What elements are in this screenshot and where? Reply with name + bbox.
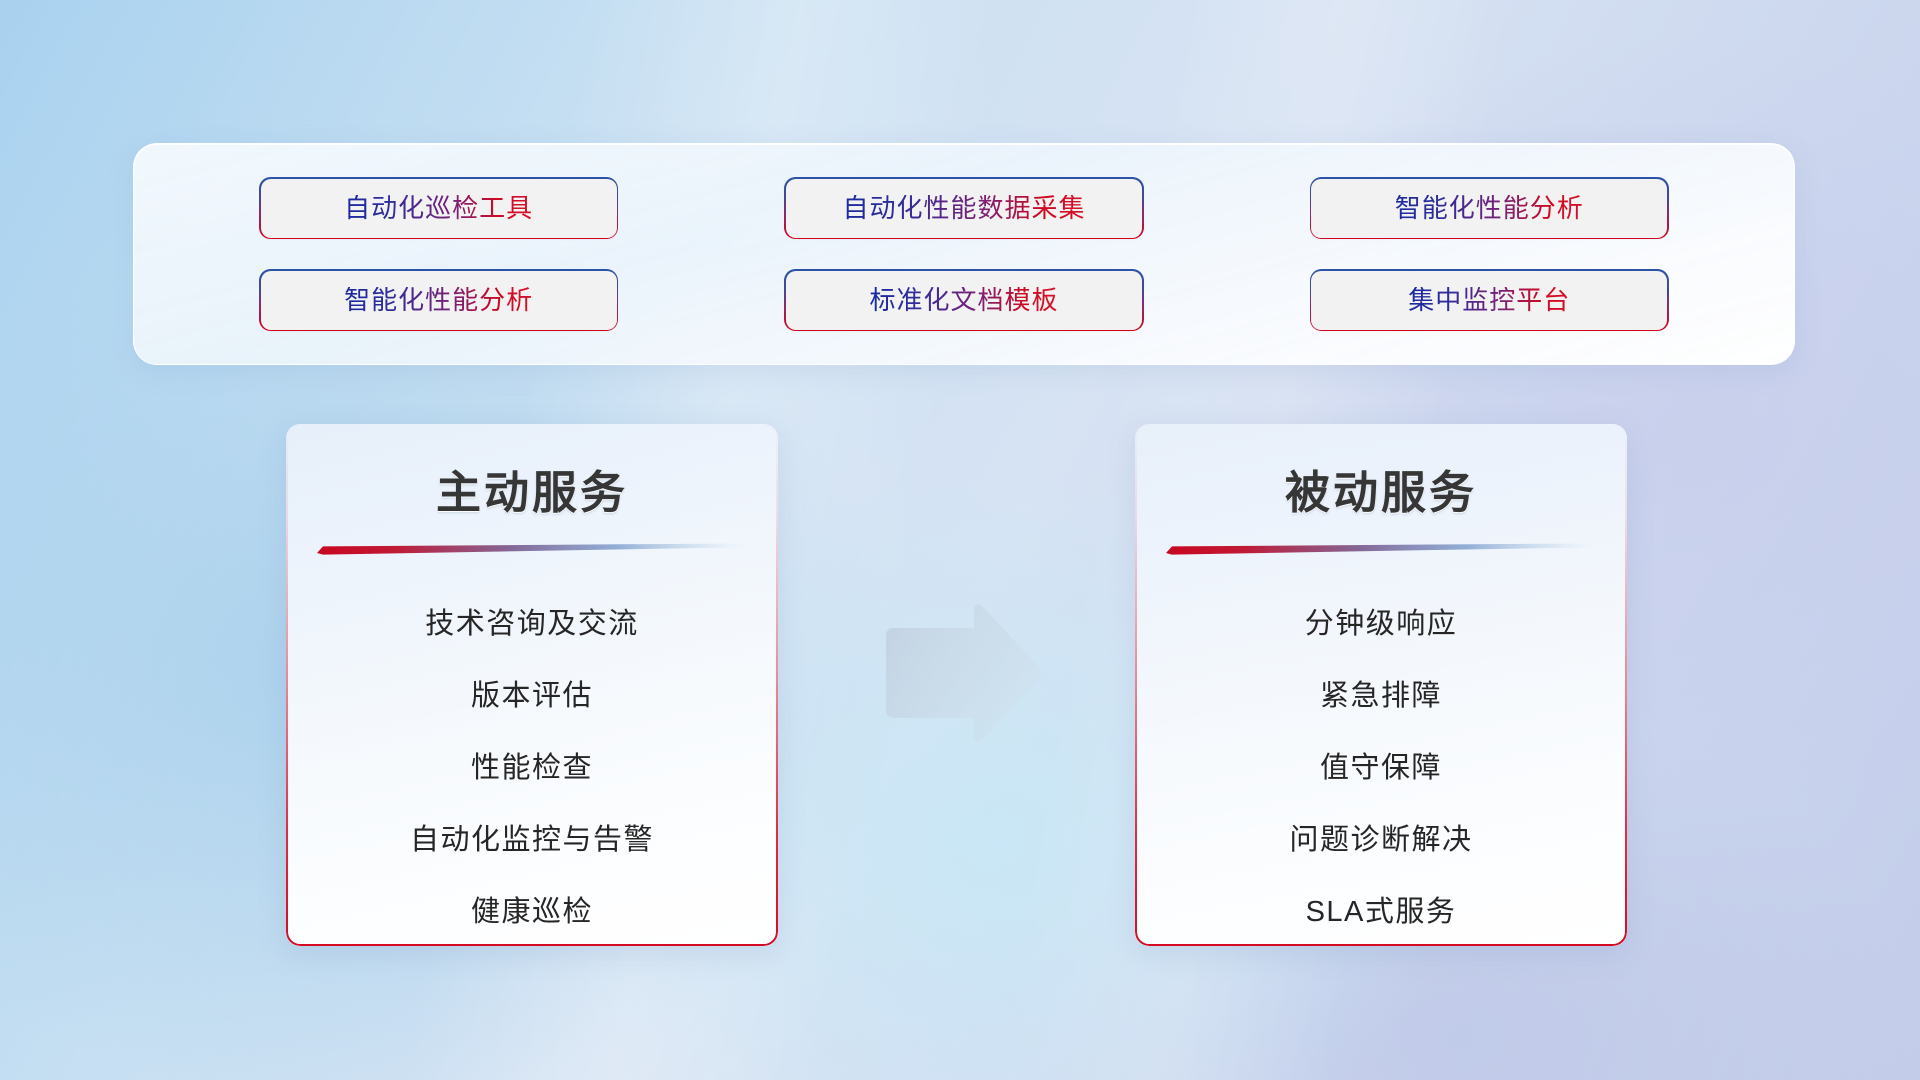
service-item[interactable]: 健康巡检 [471, 873, 593, 945]
passive-service-card: 被动服务 分钟级响应 紧急排障 值守保障 [1135, 424, 1627, 946]
service-item[interactable]: SLA式服务 [1306, 873, 1457, 945]
capability-tag-label: 智能化性能分析 [1395, 195, 1584, 221]
title-divider [317, 543, 747, 555]
service-item[interactable]: 值守保障 [1320, 729, 1442, 801]
capability-tag[interactable]: 智能化性能分析 [261, 271, 617, 330]
capability-tag[interactable]: 智能化性能分析 [1311, 179, 1667, 238]
arrow-right-icon [878, 600, 1044, 746]
capability-tag[interactable]: 自动化巡检工具 [261, 179, 617, 238]
capability-tag[interactable]: 标准化文档模板 [786, 271, 1142, 330]
capability-tag-label: 自动化巡检工具 [344, 195, 533, 221]
capability-tag-label: 集中监控平台 [1408, 287, 1570, 313]
capability-tag[interactable]: 集中监控平台 [1311, 271, 1667, 330]
active-service-list: 技术咨询及交流 版本评估 性能检查 自动化监控与告警 健康巡检 [286, 585, 778, 945]
title-divider [1166, 543, 1596, 555]
capability-tag[interactable]: 自动化性能数据采集 [786, 179, 1142, 238]
service-item[interactable]: 性能检查 [471, 729, 593, 801]
slide-canvas: 自动化巡检工具 自动化性能数据采集 智能化性能分析 智能化性能分析 标准化文档模… [0, 0, 1920, 1080]
card-title: 被动服务 [1135, 456, 1627, 521]
service-item[interactable]: 问题诊断解决 [1289, 801, 1472, 873]
capability-tag-label: 智能化性能分析 [344, 287, 533, 313]
service-item[interactable]: 紧急排障 [1320, 657, 1442, 729]
capability-tags-panel: 自动化巡检工具 自动化性能数据采集 智能化性能分析 智能化性能分析 标准化文档模… [133, 143, 1795, 365]
active-service-card: 主动服务 技术咨询及交流 版本评估 性能检查 [286, 424, 778, 946]
service-item[interactable]: 分钟级响应 [1305, 585, 1458, 657]
capability-tag-label: 自动化性能数据采集 [842, 195, 1085, 221]
service-item[interactable]: 技术咨询及交流 [425, 585, 639, 657]
capability-tag-label: 标准化文档模板 [869, 287, 1058, 313]
service-item[interactable]: 版本评估 [471, 657, 593, 729]
passive-service-list: 分钟级响应 紧急排障 值守保障 问题诊断解决 SLA式服务 [1135, 585, 1627, 945]
card-title: 主动服务 [286, 456, 778, 521]
service-item[interactable]: 自动化监控与告警 [410, 801, 654, 873]
